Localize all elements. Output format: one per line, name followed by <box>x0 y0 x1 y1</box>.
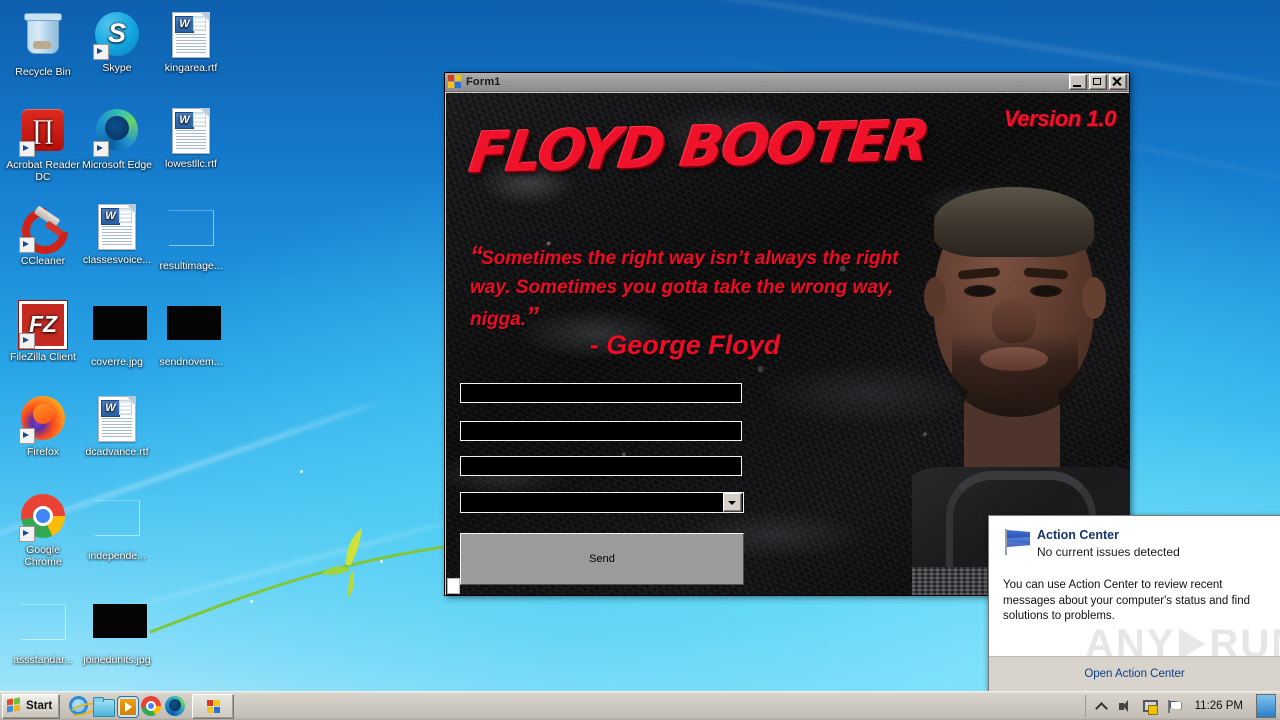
blank-file-icon <box>167 210 215 258</box>
quote-attribution: - George Floyd <box>470 330 900 361</box>
desktop-icon-label: dcadvance.rtf <box>80 447 154 459</box>
desktop-icon-label: Firefox <box>6 447 80 459</box>
taskbar[interactable]: Start 11:26 PM <box>0 691 1280 720</box>
wallpaper-sparkle <box>380 560 383 563</box>
desktop-icon-independe[interactable]: independe... <box>80 492 154 563</box>
start-button[interactable]: Start <box>2 694 60 719</box>
taskbar-item-form1[interactable] <box>192 694 234 719</box>
balloon-body-text: You can use Action Center to review rece… <box>989 560 1280 625</box>
desktop-icon-label: FileZilla Client <box>6 352 80 364</box>
chrome-icon <box>19 494 67 542</box>
desktop-icon-microsoft-edge[interactable]: Microsoft Edge <box>80 106 154 172</box>
ccleaner-icon <box>19 205 67 253</box>
network-warning-icon[interactable] <box>1141 698 1158 715</box>
resize-grip[interactable] <box>447 578 460 594</box>
desktop-icon-classesvoice[interactable]: Wclassesvoice... <box>80 202 154 267</box>
desktop-icon-skype[interactable]: SSkype <box>80 10 154 75</box>
quote-open-mark: “ <box>470 240 481 270</box>
desktop-icon-lowestllc-rtf[interactable]: Wlowestllc.rtf <box>154 106 228 171</box>
balloon-subtitle: No current issues detected <box>1037 544 1180 560</box>
acrobat-icon: ∏ <box>19 109 67 157</box>
filezilla-icon: FZ <box>19 301 67 349</box>
flag-icon <box>1001 528 1031 556</box>
word-doc-icon: W <box>93 204 141 252</box>
shortcut-arrow-icon <box>19 237 35 253</box>
field-1-input[interactable] <box>460 383 742 403</box>
internet-explorer-icon[interactable] <box>68 695 90 717</box>
recycle-bin-icon <box>19 16 67 64</box>
send-button[interactable]: Send <box>460 533 744 585</box>
wallpaper-plant-stem <box>150 520 480 640</box>
shortcut-arrow-icon <box>19 428 35 444</box>
volume-icon[interactable] <box>1117 698 1134 715</box>
desktop-icon-label: Google Chrome <box>6 545 80 568</box>
vb-form-icon <box>206 699 221 714</box>
minimize-button[interactable] <box>1069 74 1087 90</box>
desktop-icon-resultimage[interactable]: resultimage... <box>154 202 228 273</box>
show-desktop-button[interactable] <box>1256 694 1276 718</box>
desktop-icon-label: independe... <box>80 551 154 563</box>
desktop-icon-coverre-jpg[interactable]: coverre.jpg <box>80 298 154 369</box>
taskbar-clock[interactable]: 11:26 PM <box>1189 700 1249 712</box>
close-button[interactable] <box>1109 74 1127 90</box>
blank-file-icon <box>93 500 141 548</box>
balloon-footer: Open Action Center <box>989 656 1280 691</box>
shortcut-arrow-icon <box>19 333 35 349</box>
desktop-icon-label: assstandar... <box>6 655 80 667</box>
version-label: Version 1.0 <box>1004 106 1116 132</box>
microsoft-edge-icon[interactable] <box>164 695 186 717</box>
desktop-icon-google-chrome[interactable]: Google Chrome <box>6 492 80 568</box>
google-chrome-icon[interactable] <box>140 695 162 717</box>
skype-icon: S <box>93 12 141 60</box>
method-dropdown[interactable] <box>460 492 744 513</box>
show-hidden-icons-icon[interactable] <box>1093 698 1110 715</box>
window-title-bar[interactable]: Form1 <box>445 73 1129 92</box>
edge-icon <box>93 109 141 157</box>
app-logo-title: FLOYD BOOTER <box>466 109 932 187</box>
quote-line-1: Sometimes the right way isn’t <box>481 248 750 269</box>
shortcut-arrow-icon <box>93 44 109 60</box>
blank-file-icon <box>19 604 67 652</box>
maximize-button[interactable] <box>1089 74 1107 90</box>
desktop-icon-joinedunits-jpg[interactable]: joinedunits.jpg <box>80 596 154 667</box>
word-doc-icon: W <box>167 12 215 60</box>
quote-text: “Sometimes the right way isn’t always th… <box>470 241 900 334</box>
desktop-icon-ccleaner[interactable]: CCleaner <box>6 202 80 268</box>
desktop-icon-filezilla-client[interactable]: FZFileZilla Client <box>6 298 80 364</box>
desktop-icon-label: Skype <box>80 63 154 75</box>
action-center-flag-icon[interactable] <box>1165 698 1182 715</box>
window-title: Form1 <box>466 76 1067 88</box>
field-2-input[interactable] <box>460 421 742 441</box>
desktop-icon-kingarea-rtf[interactable]: Wkingarea.rtf <box>154 10 228 75</box>
system-tray: 11:26 PM <box>1085 695 1280 717</box>
word-doc-icon: W <box>167 108 215 156</box>
desktop-icon-assstandar[interactable]: assstandar... <box>6 596 80 667</box>
desktop-icon-label: kingarea.rtf <box>154 63 228 75</box>
open-action-center-link[interactable]: Open Action Center <box>1084 668 1184 680</box>
action-center-balloon[interactable]: ANY RUN Action Center No current issues … <box>988 515 1280 692</box>
desktop-icon-label: sendnovem... <box>154 357 228 369</box>
desktop-icon-label: resultimage... <box>154 261 228 273</box>
shortcut-arrow-icon <box>93 141 109 157</box>
wallpaper-sparkle <box>300 470 303 473</box>
desktop-icon-label: CCleaner <box>6 256 80 268</box>
balloon-header: Action Center No current issues detected <box>989 516 1280 560</box>
desktop-icon-label: Acrobat Reader DC <box>6 160 80 183</box>
shortcut-arrow-icon <box>19 141 35 157</box>
black-image-icon <box>93 604 141 652</box>
black-image-icon <box>167 306 215 354</box>
quick-launch-bar <box>68 695 186 717</box>
desktop-icon-dcadvance-rtf[interactable]: Wdcadvance.rtf <box>80 394 154 459</box>
chevron-down-icon[interactable] <box>723 493 742 512</box>
media-player-icon[interactable] <box>116 695 138 717</box>
wallpaper-sparkle <box>250 600 253 603</box>
field-3-input[interactable] <box>460 456 742 476</box>
quote-close-mark: ” <box>526 301 537 331</box>
desktop-icon-sendnovem[interactable]: sendnovem... <box>154 298 228 369</box>
windows-explorer-icon[interactable] <box>92 695 114 717</box>
desktop-icon-label: joinedunits.jpg <box>80 655 154 667</box>
desktop-icon-label: lowestllc.rtf <box>154 159 228 171</box>
task-button-list <box>192 694 234 719</box>
desktop-icon-label: classesvoice... <box>80 255 154 267</box>
desktop-icon-recycle-bin[interactable]: Recycle Bin <box>6 10 80 79</box>
desktop-icon-label: coverre.jpg <box>80 357 154 369</box>
shortcut-arrow-icon <box>19 526 35 542</box>
windows-logo-icon <box>7 698 23 714</box>
word-doc-icon: W <box>93 396 141 444</box>
vb-form-icon <box>448 75 462 89</box>
desktop-icon-label: Microsoft Edge <box>80 160 154 172</box>
black-image-icon <box>93 306 141 354</box>
desktop-icon-acrobat-reader-dc[interactable]: ∏Acrobat Reader DC <box>6 106 80 183</box>
desktop-icon-label: Recycle Bin <box>6 67 80 79</box>
start-button-label: Start <box>26 700 52 712</box>
firefox-icon <box>19 396 67 444</box>
balloon-title: Action Center <box>1037 528 1180 543</box>
desktop-icon-firefox[interactable]: Firefox <box>6 394 80 459</box>
